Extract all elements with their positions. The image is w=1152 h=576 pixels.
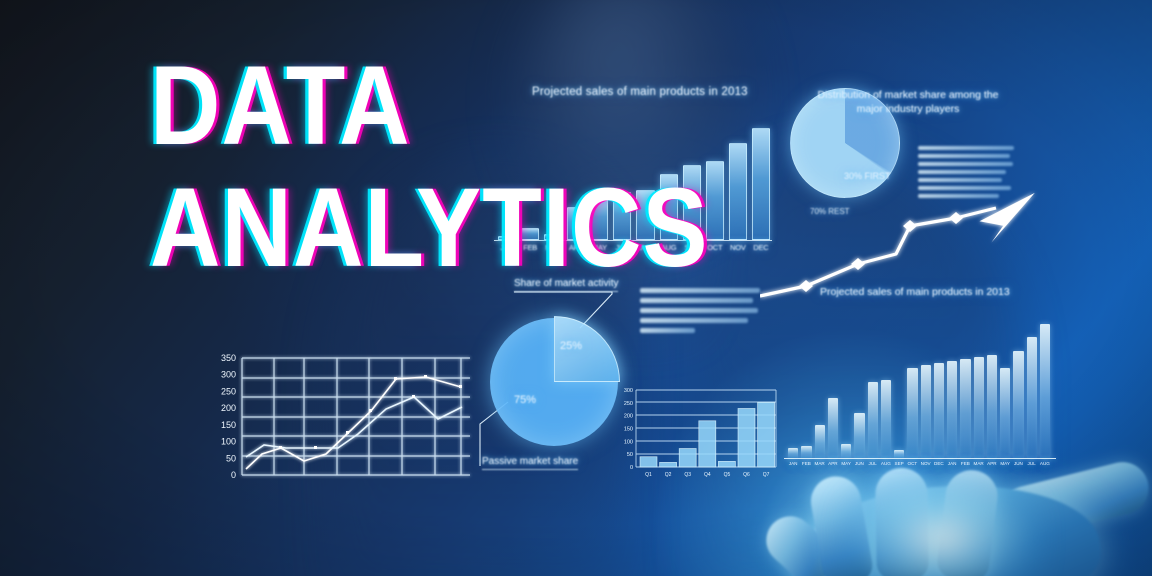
line-chart-y-tick: 50: [226, 453, 236, 463]
chart-right-tick: FEB: [960, 461, 970, 466]
chart-market-share-distribution: Distribution of market share among the m…: [790, 88, 1020, 263]
chart-right-bar: [1027, 337, 1037, 458]
chart-right-bar: [894, 450, 904, 458]
chart-right-bar: [801, 446, 811, 458]
chart-right-tick: NOV: [921, 461, 931, 466]
poster-canvas: DATA ANALYTICS Projected sales of main p…: [0, 0, 1152, 576]
chart-right-x-tick-labels: JANFEBMARAPRMAYJUNJULAUGSEPOCTNOVDECJANF…: [788, 461, 1050, 466]
chart-right-tick: MAY: [1000, 461, 1010, 466]
pie2-exploded-slice: [554, 316, 620, 382]
small-bar-tick: Q4: [704, 472, 711, 478]
pie1-body-line: [918, 186, 1011, 190]
chart-right-tick: SEP: [894, 461, 904, 466]
small-bar-rect: [718, 461, 735, 467]
chart-top-bar: [752, 128, 770, 240]
chart-right-x-axis: [784, 458, 1056, 459]
chart-right-bar: [974, 357, 984, 458]
chart-right-bar: [947, 361, 957, 458]
chart-share-of-market-activity: 25% 75% Share of market activity Passive…: [462, 278, 677, 493]
chart-right-tick: OCT: [907, 461, 917, 466]
chart-right-tick: JUN: [854, 461, 864, 466]
line-chart-y-tick: 0: [231, 470, 236, 480]
chart-right-bar: [815, 425, 825, 458]
pie1-label-rest: 70% REST: [810, 206, 850, 217]
page-title: DATA ANALYTICS: [150, 62, 677, 273]
chart-right-tick: JUN: [1013, 461, 1023, 466]
chart-projected-sales-right: Projected sales of main products in 2013…: [782, 286, 1082, 486]
chart-right-bar: [788, 448, 798, 458]
chart-right-bar: [1000, 368, 1010, 458]
hand-palm: [795, 473, 1105, 576]
small-bar-rect: [699, 421, 716, 467]
chart-top-tick: DEC: [752, 243, 770, 252]
chart-right-bar: [828, 398, 838, 458]
pie1-body-line: [918, 178, 1002, 182]
line-chart-y-tick: 100: [221, 437, 236, 447]
chart-right-tick: MAY: [841, 461, 851, 466]
chart-right-tick: JUL: [1027, 461, 1037, 466]
chart-right-tick: JAN: [788, 461, 798, 466]
hand-finger-1: [756, 506, 843, 576]
line-chart-svg: 050100150200250300350: [186, 344, 476, 499]
line-chart-y-tick: 350: [221, 353, 236, 363]
pie1-body-line: [918, 146, 1014, 150]
chart-right-bar: [987, 355, 997, 458]
line-chart-y-tick: 200: [221, 403, 236, 413]
chart-right-title: Projected sales of main products in 2013: [820, 286, 1010, 298]
hand-finger-2: [807, 472, 875, 576]
chart-right-bar: [854, 413, 864, 458]
line-series-a: [246, 377, 461, 469]
title-line-analytics: ANALYTICS: [150, 175, 709, 283]
chart-line-grid: 050100150200250300350: [186, 344, 476, 499]
pie2-callout-bottom: Passive market share: [482, 456, 578, 470]
title-line-data: DATA: [150, 52, 709, 160]
small-bar-tick: Q7: [763, 472, 770, 478]
small-bar-rect: [679, 449, 696, 467]
line-chart-y-tick-labels: 050100150200250300350: [221, 353, 236, 480]
line-chart-y-tick: 250: [221, 386, 236, 396]
chart-right-bar: [841, 444, 851, 458]
chart-right-bar: [1013, 351, 1023, 458]
line-chart-y-tick: 150: [221, 420, 236, 430]
chart-right-tick: JAN: [947, 461, 957, 466]
small-bar-rect: [738, 408, 755, 467]
chart-right-tick: MAR: [974, 461, 984, 466]
chart-right-tick: AUG: [881, 461, 891, 466]
line-chart-y-tick: 300: [221, 370, 236, 380]
pie1-body-text: [918, 146, 1014, 202]
pie1-body-line: [918, 154, 1010, 158]
pie1-body-line: [918, 170, 1006, 174]
chart-right-bar: [960, 359, 970, 458]
chart-right-plot-area: [788, 312, 1050, 458]
chart-right-tick: FEB: [801, 461, 811, 466]
chart-right-tick: DEC: [934, 461, 944, 466]
chart-top-bar: [729, 143, 747, 240]
chart-right-tick: APR: [987, 461, 997, 466]
chart-top-tick: NOV: [729, 243, 747, 252]
chart-right-tick: APR: [828, 461, 838, 466]
small-bar-tick: Q6: [743, 472, 750, 478]
chart-right-bar: [868, 382, 878, 458]
pie1-body-line: [918, 194, 999, 198]
pie1-body-line: [918, 162, 1013, 166]
chart-right-bar: [907, 368, 917, 458]
pie1-disc: [790, 88, 900, 198]
chart-right-bar: [934, 363, 944, 458]
chart-right-tick: JUL: [868, 461, 878, 466]
small-bar-tick: Q3: [684, 472, 691, 478]
chart-right-bar: [921, 365, 931, 458]
small-bar-tick: Q5: [724, 472, 731, 478]
chart-right-bar: [881, 380, 891, 458]
chart-right-bar: [1040, 324, 1050, 458]
small-bar-rect: [758, 402, 775, 467]
chart-right-tick: AUG: [1040, 461, 1050, 466]
chart-right-tick: MAR: [815, 461, 825, 466]
